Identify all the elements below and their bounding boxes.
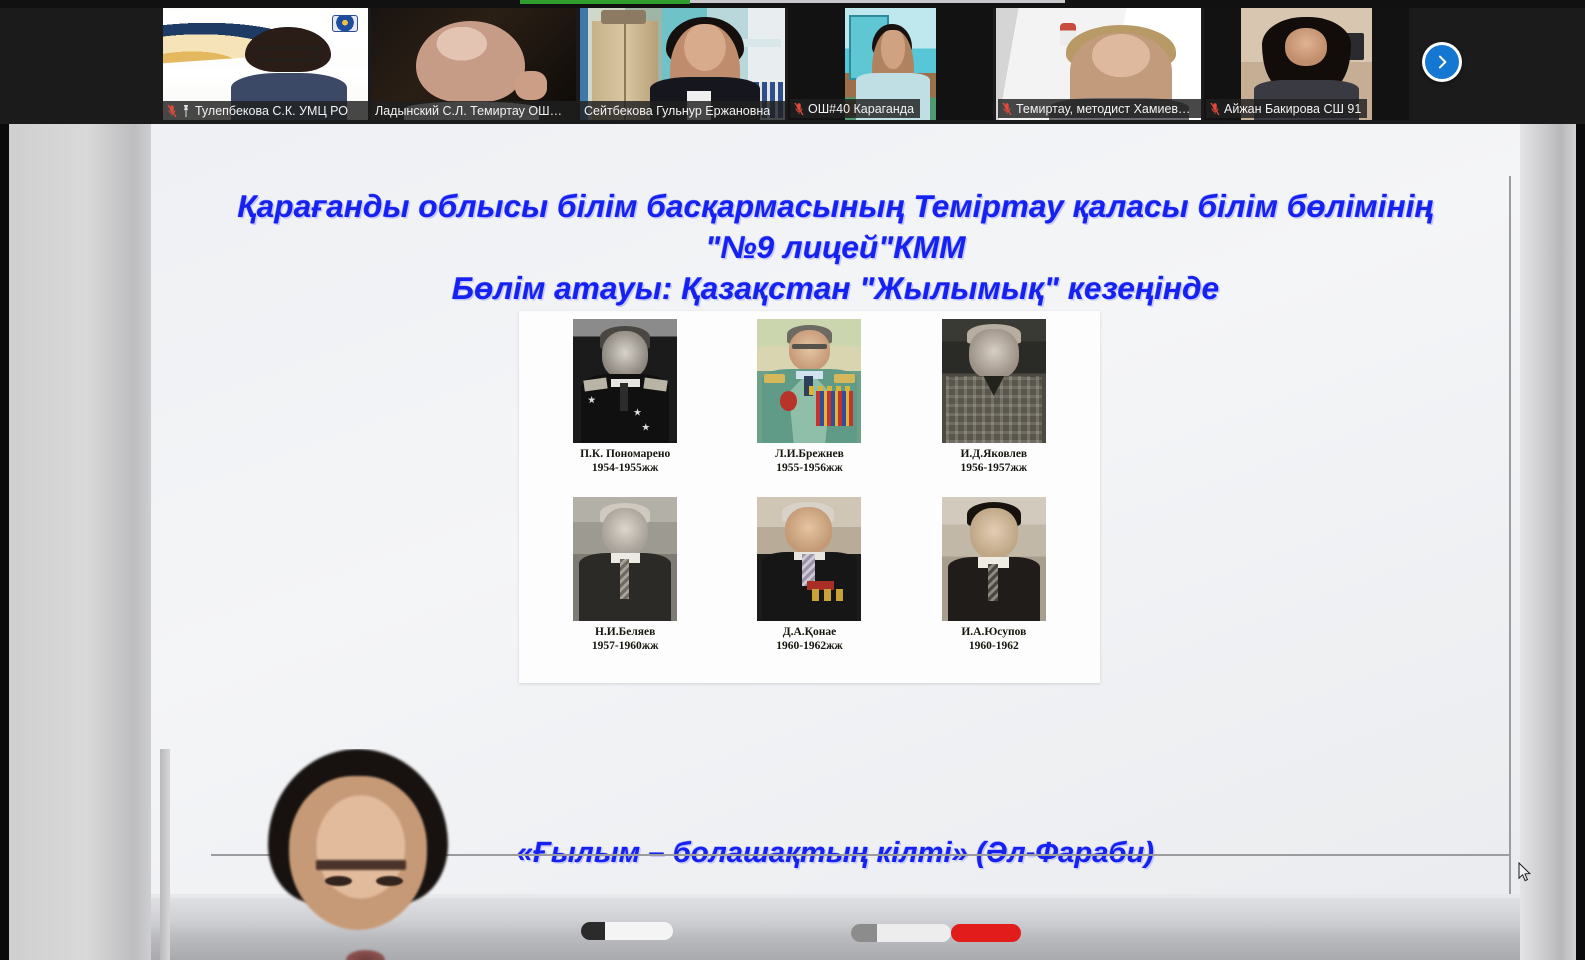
filmstrip-white-marker (690, 0, 1065, 3)
slide-title-line-1: Қарағанды облысы білім басқармасының Тем… (151, 186, 1520, 227)
leader-cell-6: И.А.Юсупов 1960-1962 (902, 497, 1086, 675)
leader-years-2: 1955-1956жж (775, 462, 844, 476)
leader-cell-2: Л.И.Брежнев 1955-1956жж (717, 319, 901, 497)
slide-title-line-2: "№9 лицей"КММ (151, 227, 1520, 268)
leader-portrait-1 (573, 319, 677, 443)
filmstrip-top-edge (0, 0, 1585, 8)
participant-face (1285, 28, 1327, 66)
leader-years-3: 1956-1957жж (960, 462, 1027, 476)
pin-icon (181, 104, 191, 118)
slide-right-border (1509, 176, 1511, 906)
participant-name-2: Ладынский С.Л. Темиртау ОШ… (375, 104, 562, 118)
leader-name-6: И.А.Юсупов (961, 626, 1026, 640)
participant-head (416, 21, 525, 102)
leader-years-6: 1960-1962 (961, 640, 1026, 654)
participant-glasses (259, 47, 318, 61)
participant-tile-2[interactable]: Ладынский С.Л. Темиртау ОШ… (371, 8, 576, 120)
mic-muted-icon (794, 102, 804, 116)
mic-muted-icon (167, 104, 177, 118)
slide-title: Қарағанды облысы білім басқармасының Тем… (151, 186, 1520, 309)
leaders-photo-card: П.К. Пономарено 1954-1955жж Л.И.Брежн (519, 311, 1100, 683)
classroom-wall-left (9, 124, 151, 960)
screen: Тулепбекова С.К. УМЦ РО Ладынский С.Л. Т… (0, 0, 1585, 960)
participant-tile-5[interactable]: Темиртау, методист Хамиева… (996, 8, 1201, 120)
leaders-photo-grid: П.К. Пономарено 1954-1955жж Л.И.Брежн (519, 311, 1100, 683)
participant-name-1: Тулепбекова С.К. УМЦ РО (195, 104, 348, 118)
cabinet-box (601, 10, 646, 23)
leader-caption-5: Д.А.Қонае 1960-1962жж (776, 626, 843, 653)
leader-portrait-2 (757, 319, 861, 443)
leader-name-1: П.К. Пономарено (580, 448, 670, 462)
leader-name-2: Л.И.Брежнев (775, 448, 844, 462)
leader-years-5: 1960-1962жж (776, 640, 843, 654)
wall-edge (160, 749, 170, 960)
participant-name-6: Айжан Бакирова СШ 91 (1224, 102, 1361, 116)
leader-cell-5: Д.А.Қонае 1960-1962жж (717, 497, 901, 675)
participant-name-bar-6: Айжан Бакирова СШ 91 (1206, 99, 1367, 118)
participant-name-4: ОШ#40 Караганда (808, 102, 914, 116)
leader-portrait-5 (757, 497, 861, 621)
participant-tile-4[interactable]: ОШ#40 Караганда (788, 8, 993, 120)
participant-name-3: Сейтбекова Гульнур Ержановна (584, 104, 770, 118)
organization-logo (332, 15, 358, 32)
filmstrip-green-marker (520, 0, 690, 4)
slide-title-line-3: Бөлім атауы: Қазақстан "Жылымық" кезеңін… (151, 268, 1520, 309)
leader-name-3: И.Д.Яковлев (960, 448, 1027, 462)
leader-cell-1: П.К. Пономарено 1954-1955жж (533, 319, 717, 497)
participant-tile-3[interactable]: Сейтбекова Гульнур Ержановна (580, 8, 785, 120)
leader-years-4: 1957-1960жж (592, 640, 659, 654)
leader-caption-1: П.К. Пономарено 1954-1955жж (580, 448, 670, 475)
leader-caption-6: И.А.Юсупов 1960-1962 (961, 626, 1026, 653)
leader-name-5: Д.А.Қонае (776, 626, 843, 640)
presenter-face (289, 776, 427, 930)
participant-name-bar-5: Темиртау, методист Хамиева… (998, 99, 1201, 118)
shared-screen-video[interactable]: Қарағанды облысы білім басқармасының Тем… (0, 124, 1585, 960)
participant-name-5: Темиртау, методист Хамиева… (1016, 102, 1197, 116)
participant-tile-6[interactable]: Айжан Бакирова СШ 91 (1204, 8, 1409, 120)
participant-filmstrip: Тулепбекова С.К. УМЦ РО Ладынский С.Л. Т… (0, 0, 1585, 124)
mic-muted-icon (1210, 102, 1220, 116)
leader-portrait-6 (942, 497, 1046, 621)
leader-caption-3: И.Д.Яковлев 1956-1957жж (960, 448, 1027, 475)
participant-tile-1[interactable]: Тулепбекова С.К. УМЦ РО (163, 8, 368, 120)
participant-name-bar-1: Тулепбекова С.К. УМЦ РО (163, 101, 368, 120)
presenter-brow (316, 860, 406, 870)
presenter-mouth (346, 950, 385, 960)
leader-cell-4: Н.И.Беляев 1957-1960жж (533, 497, 717, 675)
participant-hand (515, 71, 548, 100)
whiteboard-marker-1 (581, 922, 673, 940)
leader-years-1: 1954-1955жж (580, 462, 670, 476)
video-letterbox-right (1576, 124, 1585, 960)
participant-name-bar-3: Сейтбекова Гульнур Ержановна (580, 101, 785, 120)
whiteboard-marker-2 (851, 924, 951, 942)
chevron-right-icon (1425, 45, 1459, 79)
leader-portrait-4 (573, 497, 677, 621)
mic-muted-icon (1002, 102, 1012, 116)
participant-name-bar-4: ОШ#40 Караганда (790, 99, 920, 118)
mouse-cursor (1518, 862, 1532, 882)
leader-portrait-3 (942, 319, 1046, 443)
leader-cell-3: И.Д.Яковлев 1956-1957жж (902, 319, 1086, 497)
leader-caption-2: Л.И.Брежнев 1955-1956жж (775, 448, 844, 475)
leader-name-4: Н.И.Беляев (592, 626, 659, 640)
presenter-in-room (160, 749, 460, 960)
video-letterbox-left (0, 124, 9, 960)
whiteboard-marker-3 (951, 924, 1021, 942)
participant-name-bar-2: Ладынский С.Л. Темиртау ОШ… (371, 101, 576, 120)
leader-caption-4: Н.И.Беляев 1957-1960жж (592, 626, 659, 653)
classroom-wall-right (1520, 124, 1576, 960)
next-page-button[interactable] (1422, 42, 1462, 82)
